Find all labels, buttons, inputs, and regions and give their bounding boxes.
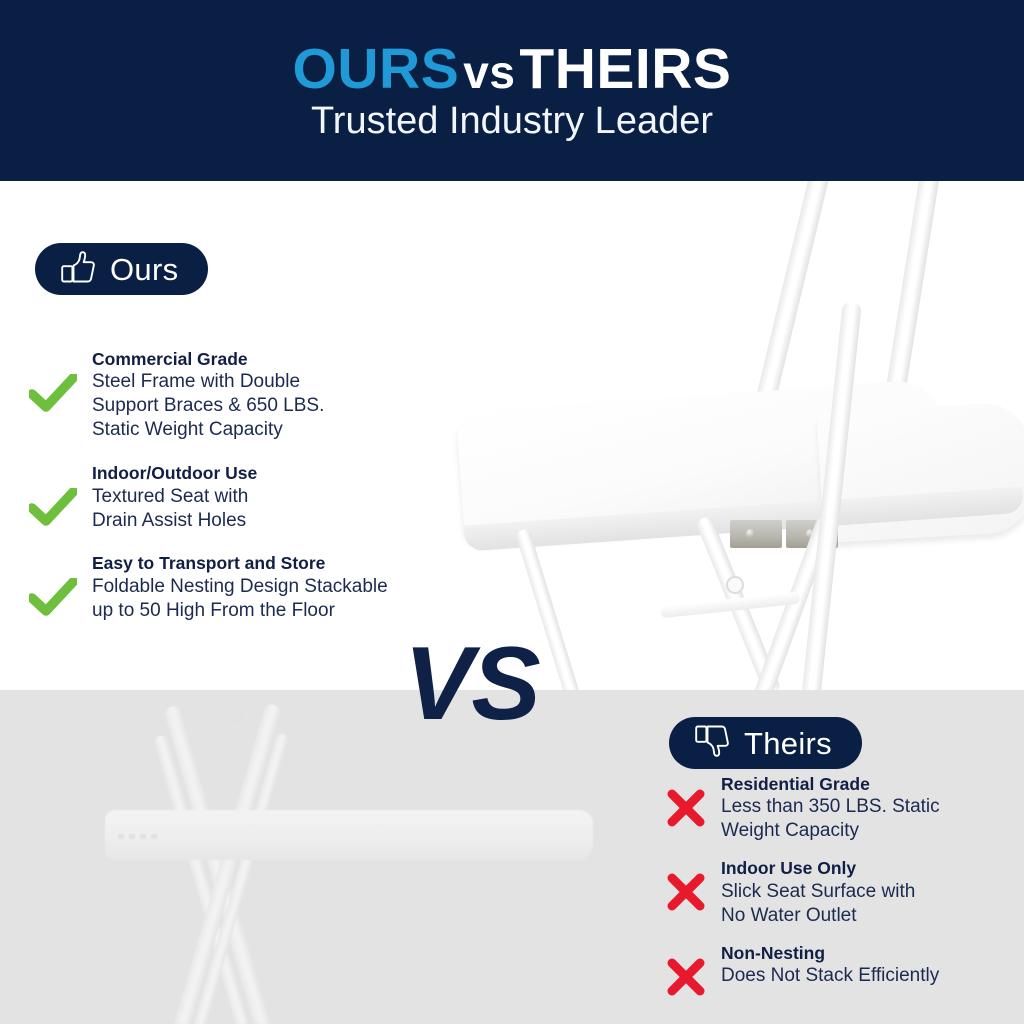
x-icon xyxy=(665,789,707,827)
page-subtitle: Trusted Industry Leader xyxy=(311,102,713,140)
chair-pivot-rivet xyxy=(726,576,744,594)
list-item-title: Non-Nesting xyxy=(721,942,939,964)
list-item-desc: Slick Seat Surface with No Water Outlet xyxy=(721,880,915,928)
title-vs: vs xyxy=(459,46,519,98)
thumbs-down-icon xyxy=(693,724,729,763)
list-item-title: Residential Grade xyxy=(721,773,940,795)
list-item: Easy to Transport and Store Foldable Nes… xyxy=(28,552,468,622)
their-chair-seat-slots xyxy=(118,834,162,839)
their-chair-image xyxy=(0,690,640,1024)
header-banner: OURSvsTHEIRS Trusted Industry Leader xyxy=(0,0,1024,181)
list-item-desc: Does Not Stack Efficiently xyxy=(721,964,939,988)
list-item-desc: Steel Frame with Double Support Braces &… xyxy=(92,370,324,442)
vs-label: VS xyxy=(404,632,539,736)
list-item: Indoor/Outdoor Use Textured Seat with Dr… xyxy=(28,462,468,532)
their-chair-seat-top xyxy=(105,810,593,824)
list-item-title: Indoor/Outdoor Use xyxy=(92,462,257,484)
x-icon xyxy=(665,873,707,911)
check-icon xyxy=(28,374,78,414)
theirs-badge-label: Theirs xyxy=(744,728,832,759)
list-item-title: Commercial Grade xyxy=(92,348,324,370)
chair-back-leg-left xyxy=(753,181,831,414)
list-item-title: Easy to Transport and Store xyxy=(92,552,388,574)
theirs-badge[interactable]: Theirs xyxy=(669,717,862,769)
our-chair-image xyxy=(430,181,1024,690)
list-item-desc: Textured Seat with Drain Assist Holes xyxy=(92,485,257,533)
check-icon xyxy=(28,578,78,618)
chair-screw-left xyxy=(746,529,755,538)
theirs-drawback-list: Residential Grade Less than 350 LBS. Sta… xyxy=(665,773,1020,996)
title-theirs: THEIRS xyxy=(519,37,731,101)
list-item: Indoor Use Only Slick Seat Surface with … xyxy=(665,857,1020,927)
list-item: Non-Nesting Does Not Stack Efficiently xyxy=(665,942,1020,996)
chair-bracket-left xyxy=(730,520,782,548)
title-ours: OURS xyxy=(293,37,460,101)
ours-badge[interactable]: Ours xyxy=(35,243,208,295)
thumbs-up-icon xyxy=(59,250,95,289)
their-chair-pivot-rivet xyxy=(228,708,248,728)
list-item: Residential Grade Less than 350 LBS. Sta… xyxy=(665,773,1020,843)
list-item-desc: Foldable Nesting Design Stackable up to … xyxy=(92,575,388,623)
list-item-title: Indoor Use Only xyxy=(721,857,915,879)
check-icon xyxy=(28,488,78,528)
ours-feature-list: Commercial Grade Steel Frame with Double… xyxy=(28,348,468,623)
comparison-infographic: OURSvsTHEIRS Trusted Industry Leader xyxy=(0,0,1024,1024)
list-item: Commercial Grade Steel Frame with Double… xyxy=(28,348,468,442)
page-title: OURSvsTHEIRS xyxy=(293,41,732,98)
list-item-desc: Less than 350 LBS. Static Weight Capacit… xyxy=(721,795,940,843)
x-icon xyxy=(665,958,707,996)
ours-badge-label: Ours xyxy=(110,254,178,285)
